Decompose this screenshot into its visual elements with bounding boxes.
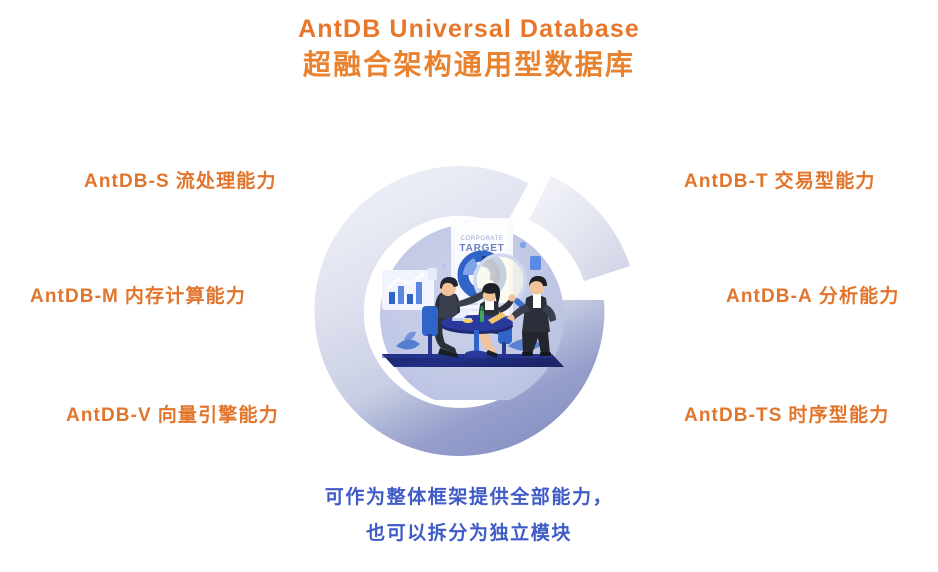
page-title-en: AntDB Universal Database xyxy=(0,14,938,45)
heading-block: AntDB Universal Database 超融合架构通用型数据库 xyxy=(0,14,938,84)
capability-label-antdb-a: AntDB-A 分析能力 xyxy=(726,287,900,306)
capability-code: AntDB-M xyxy=(30,286,119,307)
capability-code: AntDB-T xyxy=(684,171,769,192)
capability-label-antdb-t: AntDB-T 交易型能力 xyxy=(684,172,876,191)
caption-line-1: 可作为整体框架提供全部能力， xyxy=(0,488,938,509)
capability-name: 分析能力 xyxy=(819,286,900,307)
capability-label-antdb-m: AntDB-M 内存计算能力 xyxy=(30,287,246,306)
capability-label-antdb-v: AntDB-V 向量引擎能力 xyxy=(66,406,279,425)
center-ring-graphic: CORPORATE TARGET xyxy=(312,148,642,478)
capability-name: 向量引擎能力 xyxy=(158,405,279,426)
capability-code: AntDB-S xyxy=(84,171,170,192)
caption-line-2: 也可以拆分为独立模块 xyxy=(0,524,938,545)
capability-name: 内存计算能力 xyxy=(125,286,246,307)
capability-label-antdb-ts: AntDB-TS 时序型能力 xyxy=(684,406,889,425)
bar-chart-card xyxy=(382,270,434,310)
page-title-cn: 超融合架构通用型数据库 xyxy=(0,47,938,83)
capability-label-antdb-s: AntDB-S 流处理能力 xyxy=(84,172,277,191)
poster-title-line-1: CORPORATE xyxy=(461,236,504,242)
capability-code: AntDB-A xyxy=(726,286,813,307)
slide-canvas: AntDB Universal Database 超融合架构通用型数据库 Ant… xyxy=(0,0,938,572)
capability-code: AntDB-V xyxy=(66,405,152,426)
capability-name: 流处理能力 xyxy=(176,171,277,192)
capability-name: 交易型能力 xyxy=(775,171,876,192)
capability-code: AntDB-TS xyxy=(684,405,783,426)
capability-name: 时序型能力 xyxy=(788,405,889,426)
